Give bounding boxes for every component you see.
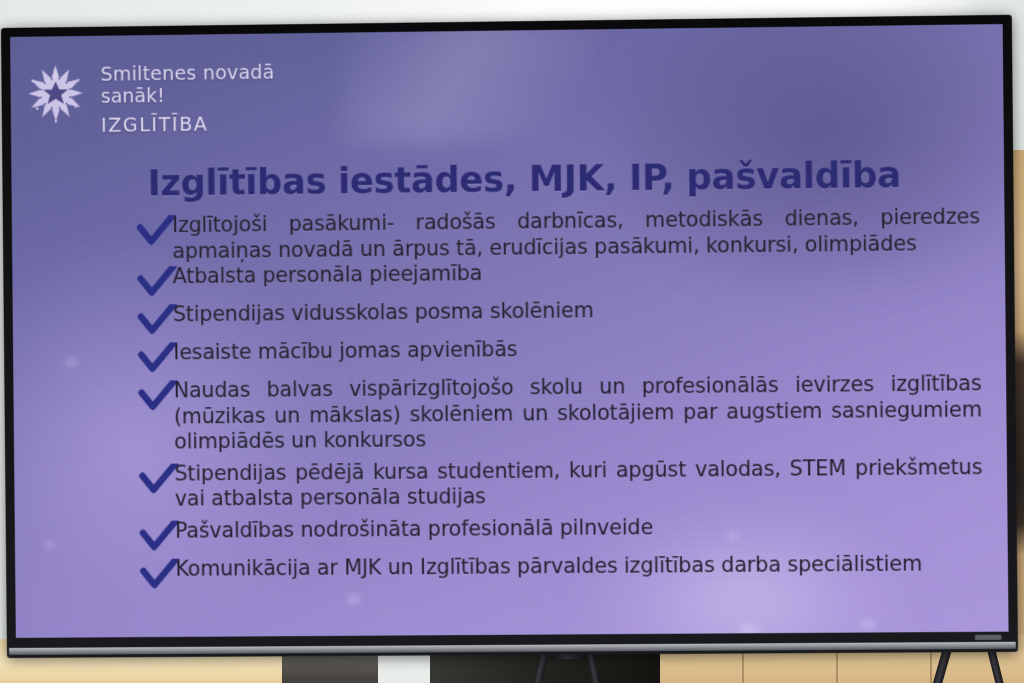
slide-title: Izglītības iestādes, MJK, IP, pašvaldība (147, 154, 977, 206)
check-mark-icon (136, 215, 176, 245)
bullet-item: Izglītojoši pasākumi- radošās darbnīcas,… (132, 204, 980, 264)
bullet-item: Komunikācija ar MJK un Izglītības pārval… (135, 550, 983, 588)
brand-text: Smiltenes novadā sanāk! IZGLĪTĪBA (100, 56, 275, 137)
bullet-list: Izglītojoši pasākumi- radošās darbnīcas,… (132, 204, 984, 590)
brand-line-1: Smiltenes novadā (100, 62, 274, 86)
check-mark-icon (139, 520, 179, 550)
bullet-item: Stipendijas vidusskolas posma skolēniem (133, 294, 981, 335)
display-brand-badge (975, 635, 1002, 640)
bullet-text: Komunikācija ar MJK un Izglītības pārval… (175, 550, 983, 581)
bullet-text: Pašvaldības nodrošināta profesionālā pil… (175, 512, 983, 544)
check-mark-icon (139, 558, 179, 588)
brand-subtitle: IZGLĪTĪBA (101, 113, 275, 137)
brand-line-2: sanāk! (101, 84, 275, 108)
brand-block: Smiltenes novadā sanāk! IZGLĪTĪBA (24, 56, 275, 138)
bullet-text: Izglītojoši pasākumi- radošās darbnīcas,… (172, 204, 980, 264)
check-mark-icon (137, 304, 177, 334)
photo-scene: Smiltenes novadā sanāk! IZGLĪTĪBA Izglīt… (0, 0, 1024, 683)
presentation-display: Smiltenes novadā sanāk! IZGLĪTĪBA Izglīt… (1, 15, 1018, 658)
snowflake-flower-logo-icon (24, 60, 87, 127)
bullet-text: Stipendijas vidusskolas posma skolēniem (173, 294, 981, 328)
bullet-text: Stipendijas pēdējā kursa studentiem, kur… (174, 454, 982, 512)
bullet-item: Naudas balvas vispārizglītojošo skolu un… (133, 371, 982, 455)
check-mark-icon (136, 266, 176, 296)
check-mark-icon (138, 463, 178, 493)
slide-content: Smiltenes novadā sanāk! IZGLĪTĪBA Izglīt… (10, 24, 1009, 638)
bullet-item: Iesaiste mācību jomas apvienībās (133, 333, 981, 373)
check-mark-icon (137, 342, 177, 372)
bullet-item: Stipendijas pēdējā kursa studentiem, kur… (134, 454, 983, 512)
bullet-item: Pašvaldības nodrošināta profesionālā pil… (135, 512, 983, 551)
bullet-text: Iesaiste mācību jomas apvienībās (173, 333, 981, 366)
check-mark-icon (138, 380, 178, 410)
bullet-text: Naudas balvas vispārizglītojošo skolu un… (174, 371, 983, 455)
display-screen: Smiltenes novadā sanāk! IZGLĪTĪBA Izglīt… (10, 24, 1009, 638)
